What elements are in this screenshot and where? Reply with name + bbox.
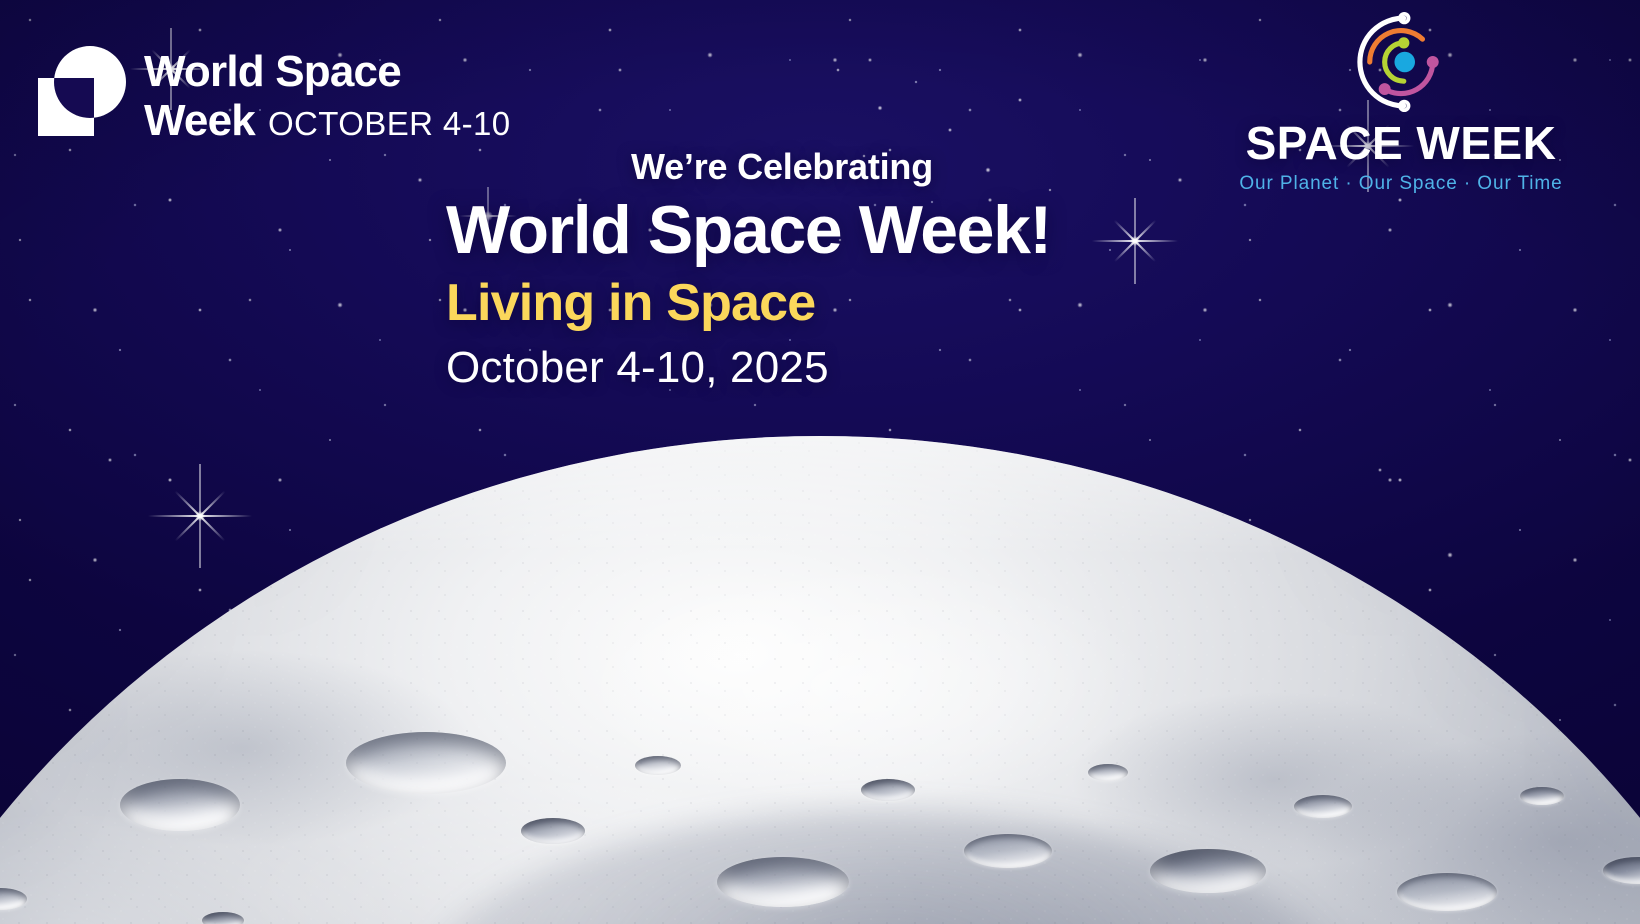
headline-main: World Space Week!	[446, 194, 1346, 267]
headline-kicker: We’re Celebrating	[446, 146, 1118, 188]
world-space-week-mark-icon	[36, 46, 126, 138]
space-week-tagline: Our Planet · Our Space · Our Time	[1236, 173, 1566, 195]
world-space-week-logo[interactable]: World Space Week OCTOBER 4-10	[36, 46, 511, 143]
space-week-orbit-emblem-icon	[1345, 6, 1457, 118]
headline-theme: Living in Space	[446, 275, 1346, 332]
world-space-week-banner: World Space Week OCTOBER 4-10 We’re Cele…	[0, 0, 1640, 924]
headline-block: We’re Celebrating World Space Week! Livi…	[446, 146, 1346, 393]
lunar-surface	[0, 436, 1640, 924]
space-week-logo[interactable]: SPACE WEEK Our Planet · Our Space · Our …	[1236, 6, 1566, 195]
world-space-week-wordmark: World Space Week OCTOBER 4-10	[144, 46, 511, 143]
wsw-line-two: Week	[144, 99, 255, 143]
wsw-dates: OCTOBER 4-10	[268, 105, 511, 143]
space-week-title: SPACE WEEK	[1236, 120, 1566, 166]
wsw-line-one: World Space	[144, 50, 511, 94]
headline-dates: October 4-10, 2025	[446, 343, 1346, 393]
